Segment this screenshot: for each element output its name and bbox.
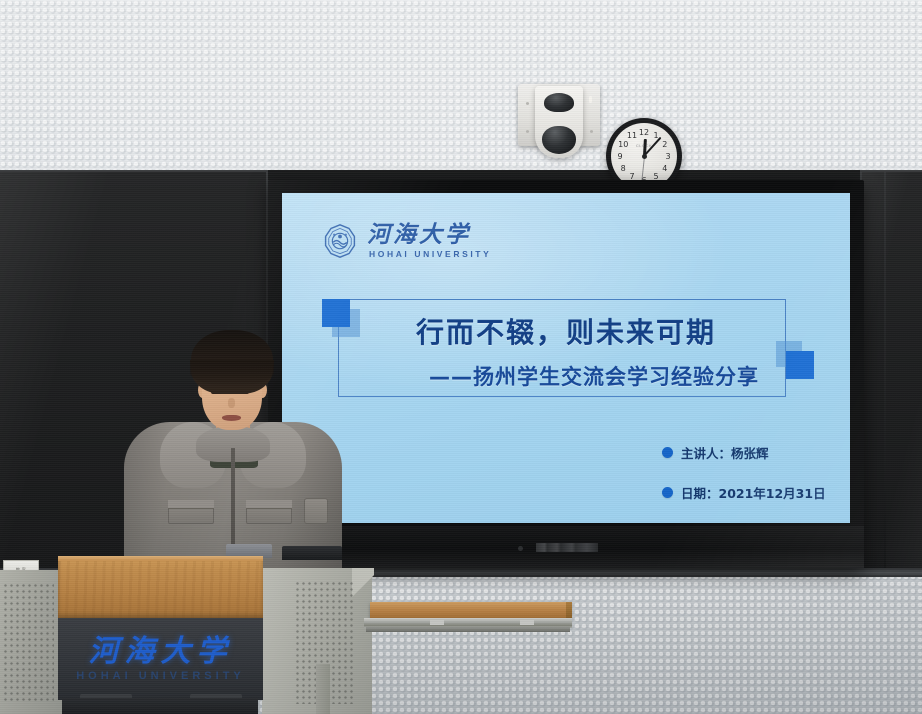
blackboard-seam — [884, 170, 886, 570]
camera-screw — [526, 102, 529, 105]
camera-lens-upper — [544, 93, 574, 112]
camera-led — [589, 96, 592, 103]
presenter-hair-fringe — [190, 360, 274, 386]
hohai-emblem-icon — [322, 223, 358, 259]
clock-numeral: 8 — [618, 163, 629, 174]
clock-numeral: 9 — [615, 151, 626, 162]
pocket-flap — [168, 500, 214, 509]
ceiling-camera-icon — [518, 84, 600, 162]
presenter-nose — [228, 398, 235, 408]
pullout-shelf[interactable] — [370, 602, 570, 618]
slide-meta-list: 主讲人：杨张辉 日期：2021年12月31日 — [662, 443, 850, 523]
clock-numeral: 2 — [659, 139, 670, 150]
list-item: 日期：2021年12月31日 — [662, 483, 850, 502]
logo-chinese-name: 河海大学 — [367, 223, 491, 246]
blackboard-right-panel — [862, 170, 922, 570]
camera-lens-lower — [542, 126, 576, 154]
lectern-brand-chinese: 河海大学 — [58, 626, 263, 670]
logo-text: 河海大学 HOHAI UNIVERSITY — [367, 223, 491, 259]
list-item: 主讲人：杨张辉 — [662, 443, 850, 462]
lectern-wood-top — [58, 558, 263, 618]
clock-numeral: 3 — [663, 151, 674, 162]
pullout-shelf-end — [566, 602, 572, 618]
slide-canvas: 河海大学 HOHAI UNIVERSITY 行而不辍，则未来可期 ——扬州学生交… — [282, 193, 850, 523]
clock-numeral: 12 — [639, 127, 650, 138]
shelf-tab — [520, 620, 534, 625]
jacket-pocket-left — [168, 500, 214, 524]
lectern: 河海大学 HOHAI UNIVERSITY — [0, 556, 600, 714]
display-ir-receiver — [518, 546, 523, 551]
slide-subtitle: ——扬州学生交流会学习经验分享 — [282, 361, 850, 391]
lectern-column — [316, 664, 330, 714]
logo-english-name: HOHAI UNIVERSITY — [369, 250, 491, 259]
slide-title: 行而不辍，则未来可期 — [282, 311, 850, 351]
lectern-base — [62, 698, 258, 714]
camera-screw — [590, 130, 593, 133]
shelf-tab — [430, 620, 444, 625]
jacket-sleeve-pocket — [304, 498, 328, 524]
university-logo: 河海大学 HOHAI UNIVERSITY — [322, 223, 491, 259]
lectern-brand-english: HOHAI UNIVERSITY — [58, 670, 263, 682]
date-line: 日期：2021年12月31日 — [681, 483, 826, 502]
bullet-dot-icon — [662, 447, 673, 458]
shelf-rail-lower — [366, 627, 570, 632]
display-screen[interactable]: 河海大学 HOHAI UNIVERSITY 行而不辍，则未来可期 ——扬州学生交… — [282, 193, 850, 523]
classroom-scene: 教 室 CLOCK 121234567891011 — [0, 0, 922, 714]
bullet-dot-icon — [662, 487, 673, 498]
pocket-flap — [246, 500, 292, 509]
display-brand-logo — [536, 543, 598, 552]
clock-center-pin — [642, 154, 647, 159]
camera-screw — [526, 130, 529, 133]
blackboard-sheen — [862, 172, 922, 570]
speaker-line: 主讲人：杨张辉 — [681, 443, 769, 462]
presenter-mouth — [222, 415, 241, 421]
lectern-top-lip — [58, 556, 263, 561]
clock-numeral: 11 — [627, 130, 638, 141]
wood-grain — [58, 558, 263, 618]
jacket-pocket-right — [246, 500, 292, 524]
presentation-display[interactable]: 河海大学 HOHAI UNIVERSITY 行而不辍，则未来可期 ——扬州学生交… — [268, 180, 864, 568]
lectern-speaker-grille-left — [4, 584, 54, 702]
lectern-front-panel: 河海大学 HOHAI UNIVERSITY — [58, 618, 263, 700]
lectern-monitor — [282, 546, 342, 560]
